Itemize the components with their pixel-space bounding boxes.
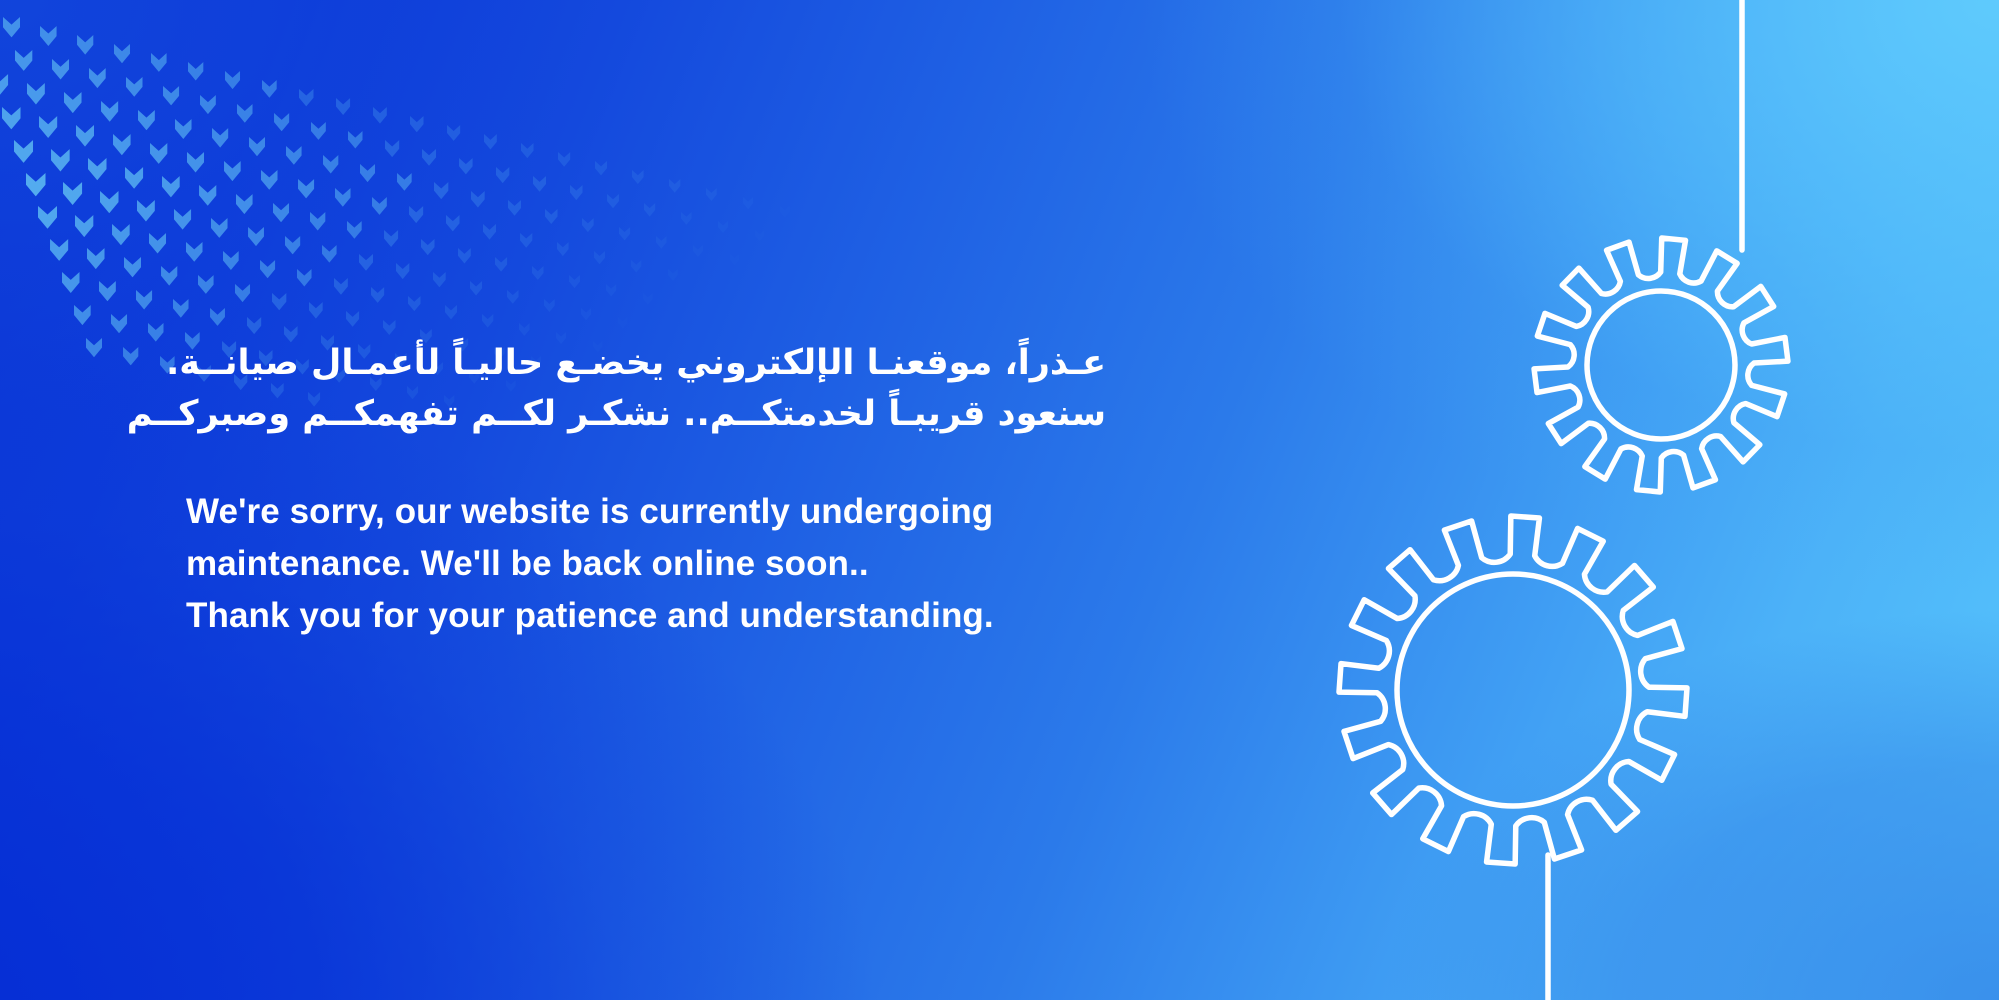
arabic-line-2: سنعود قريبـاً لخدمتكــم.. نشكـر لكــم تف… [186, 389, 1106, 440]
maintenance-page: عـذراً، موقعنـا الإلكتروني يخضـع حاليـاً… [0, 0, 1999, 1000]
arabic-line-1: عـذراً، موقعنـا الإلكتروني يخضـع حاليـاً… [186, 338, 1106, 389]
message-block: عـذراً، موقعنـا الإلكتروني يخضـع حاليـاً… [186, 338, 1196, 642]
english-line-2: maintenance. We'll be back online soon.. [186, 538, 1196, 590]
message-spacer [186, 440, 1196, 486]
english-line-3: Thank you for your patience and understa… [186, 590, 1196, 642]
english-line-1: We're sorry, our website is currently un… [186, 486, 1196, 538]
arabic-message: عـذراً، موقعنـا الإلكتروني يخضـع حاليـاً… [186, 338, 1106, 440]
english-message: We're sorry, our website is currently un… [186, 486, 1196, 641]
